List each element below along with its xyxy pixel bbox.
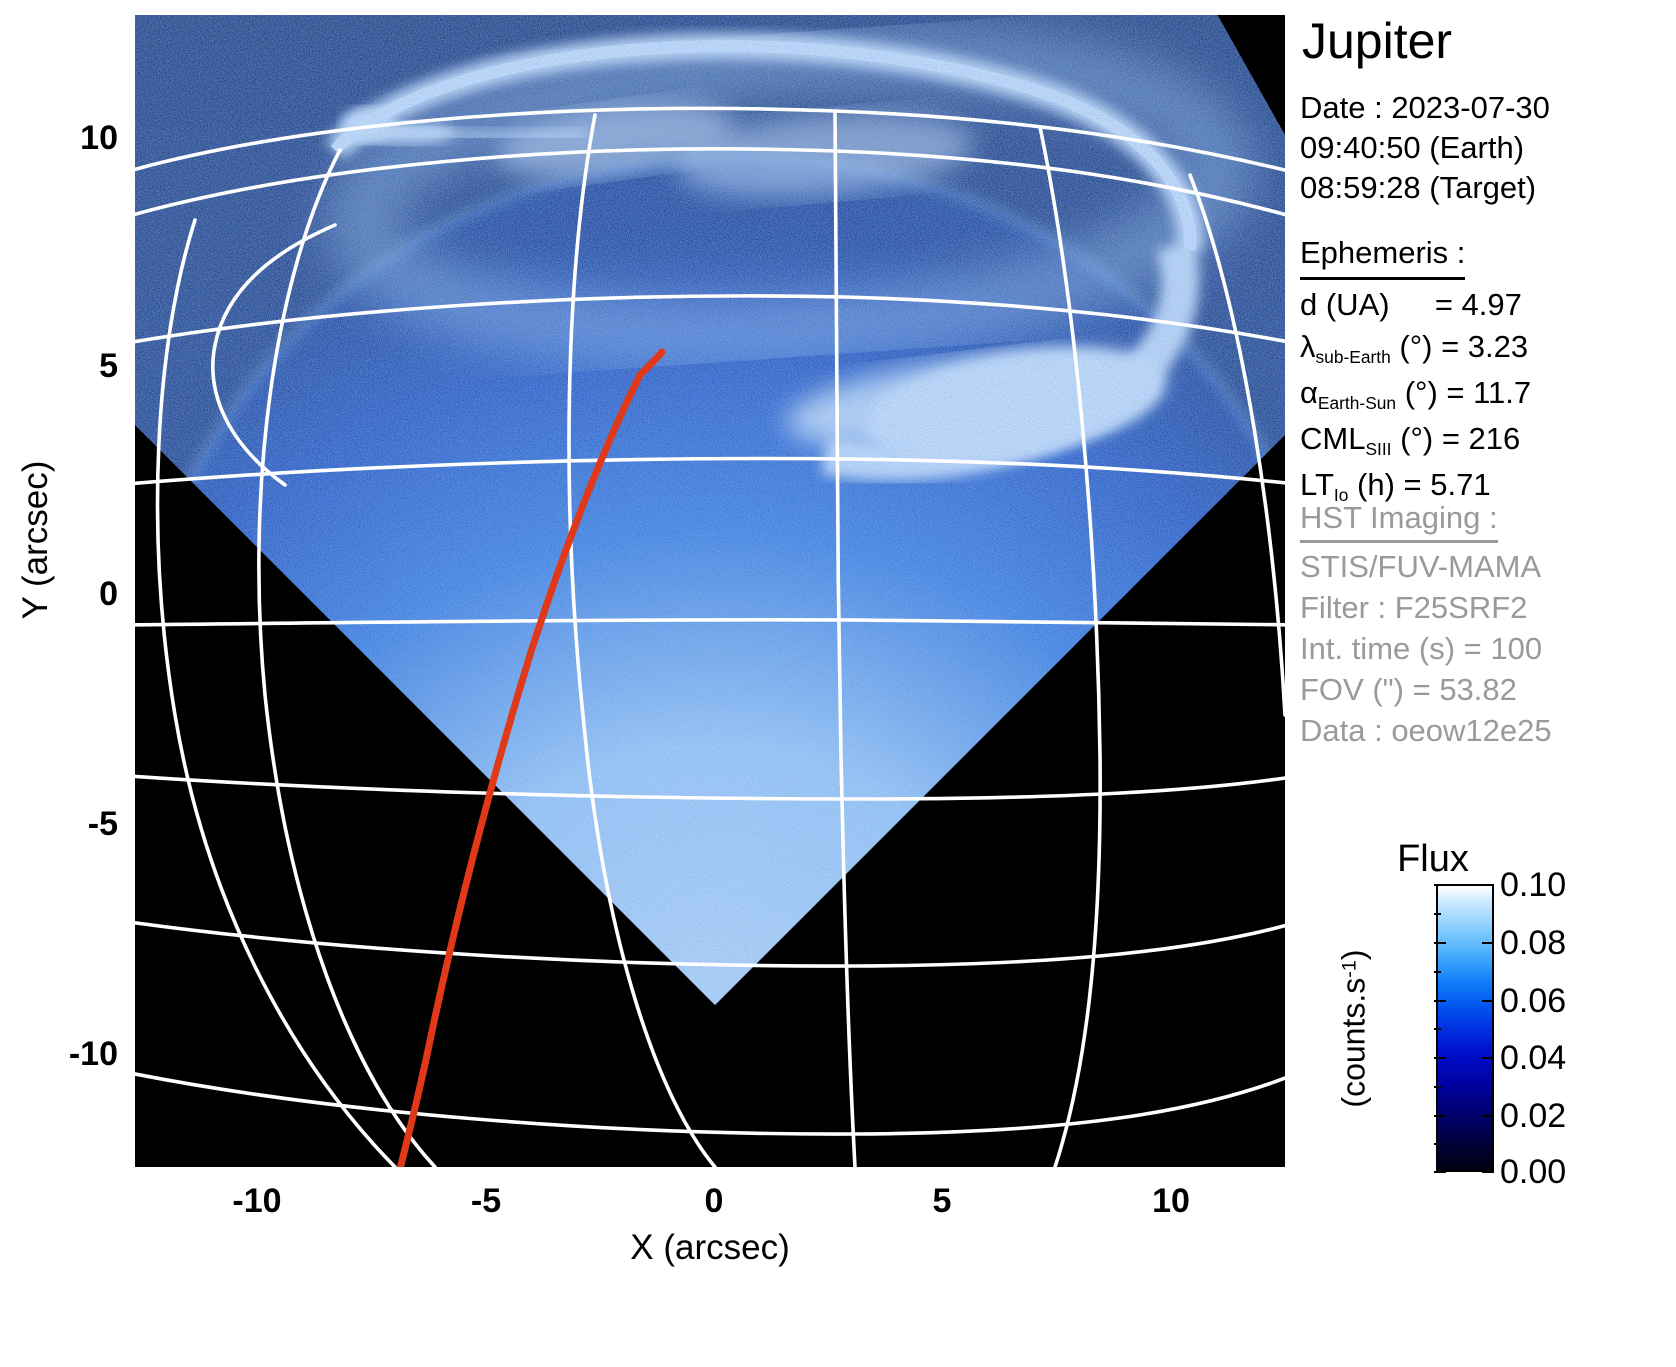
colorbar-tick-right-0.02: [1482, 1115, 1494, 1117]
ephemeris-label-lambda: λ: [1300, 329, 1316, 364]
x-axis-label: X (arcsec): [135, 1228, 1285, 1268]
observation-date: Date : 2023-07-30: [1300, 88, 1550, 128]
ephemeris-value-lambda: = 3.23: [1441, 329, 1528, 364]
y-tick-5: 5: [0, 347, 118, 386]
y-axis-label: Y (arcsec): [16, 390, 56, 690]
ephemeris-value-cml: = 216: [1442, 421, 1520, 456]
hst-filter: Filter : F25SRF2: [1300, 587, 1552, 628]
ephemeris-row-cml: CMLSIII (°) = 216: [1300, 418, 1531, 464]
ephemeris-block: Ephemeris : d (UA) = 4.97 λsub-Earth (°)…: [1300, 232, 1531, 510]
ephemeris-row-sub-earth-latitude: λsub-Earth (°) = 3.23: [1300, 326, 1531, 372]
ephemeris-unit-alpha: (°): [1405, 375, 1438, 410]
ephemeris-header: Ephemeris :: [1300, 232, 1465, 280]
ephemeris-value-alpha: = 11.7: [1446, 375, 1531, 410]
ephemeris-unit-lambda: (°): [1399, 329, 1432, 364]
hst-imaging-block: HST Imaging : STIS/FUV-MAMA Filter : F25…: [1300, 497, 1552, 751]
hst-instrument: STIS/FUV-MAMA: [1300, 546, 1552, 587]
colorbar-gradient[interactable]: [1436, 884, 1494, 1172]
x-tick-10: 10: [1111, 1182, 1231, 1221]
hst-fov: FOV (") = 53.82: [1300, 669, 1552, 710]
x-tick-5: 5: [882, 1182, 1002, 1221]
colorbar-tick-right-0.06: [1482, 1000, 1494, 1002]
y-tick--10: -10: [0, 1035, 118, 1074]
ephemeris-unit-cml: (°): [1400, 421, 1433, 456]
observation-time-earth: 09:40:50 (Earth): [1300, 128, 1550, 168]
colorbar-unit-close: ): [1336, 949, 1372, 960]
observation-time-target: 08:59:28 (Target): [1300, 168, 1550, 208]
hst-header: HST Imaging :: [1300, 497, 1498, 543]
x-tick--10: -10: [197, 1182, 317, 1221]
colorbar-tick-right-0.00: [1482, 1171, 1494, 1173]
colorbar-minor-tick-5: [1434, 1143, 1441, 1145]
colorbar-tick-0.00: [1434, 1171, 1446, 1173]
colorbar-minor-tick-1: [1434, 913, 1441, 915]
colorbar-label-0.08: 0.08: [1500, 926, 1566, 960]
ephemeris-sub-alpha: Earth-Sun: [1318, 393, 1396, 413]
hst-data-id: Data : oeow12e25: [1300, 710, 1552, 751]
colorbar-unit-label: (counts.s-1): [1336, 879, 1373, 1179]
observation-time-block: Date : 2023-07-30 09:40:50 (Earth) 08:59…: [1300, 88, 1550, 208]
colorbar-minor-tick-3: [1434, 1028, 1441, 1030]
y-tick-10: 10: [0, 119, 118, 158]
colorbar-label-0.02: 0.02: [1500, 1099, 1566, 1133]
ephemeris-row-phase-angle: αEarth-Sun (°) = 11.7: [1300, 372, 1531, 418]
hst-integration-time: Int. time (s) = 100: [1300, 628, 1552, 669]
colorbar-tick-0.04: [1434, 1057, 1446, 1059]
ephemeris-value-distance: = 4.97: [1435, 287, 1522, 322]
x-tick-0: 0: [654, 1182, 774, 1221]
y-tick--5: -5: [0, 805, 118, 844]
ephemeris-sub-lambda: sub-Earth: [1316, 347, 1391, 367]
page-title: Jupiter: [1302, 12, 1452, 70]
colorbar-tick-0.02: [1434, 1115, 1446, 1117]
colorbar-label-0.00: 0.00: [1500, 1155, 1566, 1189]
colorbar-tick-0.06: [1434, 1000, 1446, 1002]
colorbar-label-0.04: 0.04: [1500, 1041, 1566, 1075]
colorbar-minor-tick-4: [1434, 1086, 1441, 1088]
x-tick--5: -5: [426, 1182, 546, 1221]
colorbar-label-0.06: 0.06: [1500, 984, 1566, 1018]
colorbar-tick-right-0.08: [1482, 942, 1494, 944]
ephemeris-label-cml: CML: [1300, 421, 1365, 456]
colorbar-unit-exponent: -1: [1339, 960, 1361, 978]
ephemeris-row-distance: d (UA) = 4.97: [1300, 284, 1531, 326]
ephemeris-sub-cml: SIII: [1365, 439, 1391, 459]
colorbar-label-0.10: 0.10: [1500, 868, 1566, 902]
jupiter-fuv-image: [135, 15, 1285, 1167]
colorbar-tick-0.08: [1434, 942, 1446, 944]
ephemeris-label-alpha: α: [1300, 375, 1318, 410]
colorbar-tick-right-0.04: [1482, 1057, 1494, 1059]
figure-root: 10 5 0 -5 -10 -10 -5 0 5 10 Y (arcsec) X…: [0, 0, 1676, 1367]
colorbar-unit-text: (counts.s: [1336, 978, 1372, 1108]
colorbar-minor-tick-2: [1434, 971, 1441, 973]
colorbar-tick-0.10: [1434, 884, 1446, 886]
colorbar-tick-right-0.10: [1482, 884, 1494, 886]
ephemeris-label-distance: d (UA): [1300, 287, 1390, 322]
image-plot-area[interactable]: [135, 15, 1285, 1167]
